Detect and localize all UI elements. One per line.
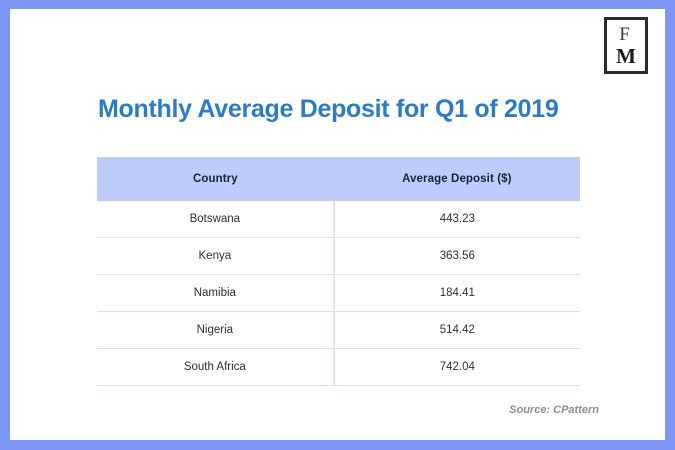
table-body: Botswana 443.23 Kenya 363.56 Namibia 184… — [97, 201, 580, 386]
table-header: Country Average Deposit ($) — [97, 157, 580, 201]
table-row: Botswana 443.23 — [97, 201, 580, 238]
cell-country: Botswana — [97, 201, 334, 238]
fm-logo: F M — [604, 17, 648, 74]
table-row: Nigeria 514.42 — [97, 312, 580, 349]
column-header-average-deposit: Average Deposit ($) — [334, 157, 580, 201]
poster-canvas: F M Monthly Average Deposit for Q1 of 20… — [10, 9, 665, 440]
table-row: Kenya 363.56 — [97, 238, 580, 275]
deposit-table: Country Average Deposit ($) Botswana 443… — [97, 157, 580, 386]
cell-deposit: 184.41 — [334, 275, 580, 312]
page-title: Monthly Average Deposit for Q1 of 2019 — [98, 95, 558, 124]
column-header-country: Country — [97, 157, 334, 201]
table-row: South Africa 742.04 — [97, 349, 580, 386]
cell-deposit: 443.23 — [334, 201, 580, 238]
logo-letter-f: F — [619, 25, 630, 44]
cell-deposit: 514.42 — [334, 312, 580, 349]
cell-deposit: 742.04 — [334, 349, 580, 386]
poster-frame: F M Monthly Average Deposit for Q1 of 20… — [0, 0, 675, 450]
cell-country: Nigeria — [97, 312, 334, 349]
logo-letter-m: M — [616, 46, 636, 67]
table-header-row: Country Average Deposit ($) — [97, 157, 580, 201]
deposit-table-container: Country Average Deposit ($) Botswana 443… — [97, 157, 580, 386]
cell-country: South Africa — [97, 349, 334, 386]
cell-country: Kenya — [97, 238, 334, 275]
cell-deposit: 363.56 — [334, 238, 580, 275]
cell-country: Namibia — [97, 275, 334, 312]
source-attribution: Source: CPattern — [509, 404, 599, 416]
table-row: Namibia 184.41 — [97, 275, 580, 312]
